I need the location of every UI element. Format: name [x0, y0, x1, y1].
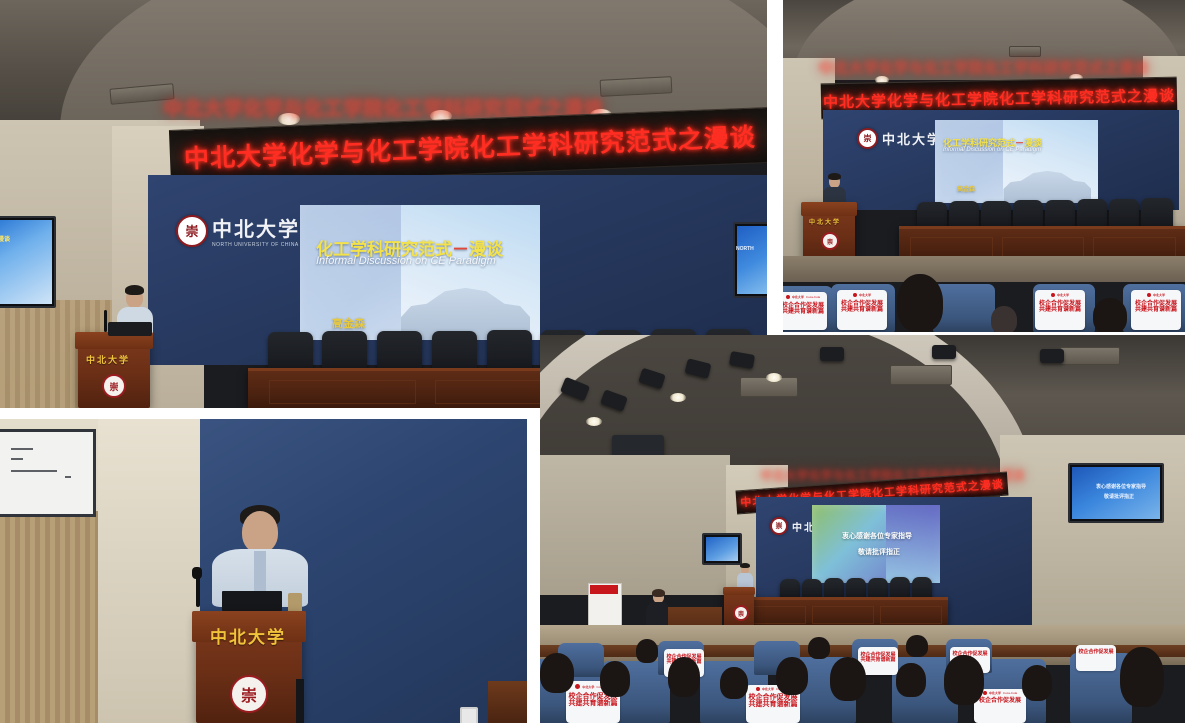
podium-seal-icon: 崇	[102, 374, 126, 398]
university-logo: 崇 中北大学 NORTH UNIVERSITY OF CHINA	[176, 213, 300, 248]
university-seal-icon: 崇	[176, 215, 208, 247]
side-monitor-left: 漫谈	[0, 216, 56, 308]
projector	[612, 435, 664, 457]
side-monitor-right: NORTH	[733, 222, 767, 298]
stage-light-icon	[820, 347, 844, 361]
seat-cover: 中北大学Coca-Cola 校企合作促发展 共建共育谱新篇	[783, 292, 827, 330]
audience-head	[668, 657, 700, 697]
university-seal-icon: 崇	[770, 517, 788, 535]
audience-head	[897, 274, 943, 332]
audience-head	[720, 667, 748, 699]
top-right-photo: 中北大学化学与化工学院化工学科研究范式之漫谈 中北大学化学与化工学院化工学科研究…	[783, 0, 1185, 332]
audience-head	[896, 663, 926, 697]
podium-label: 中北大学	[809, 217, 841, 226]
slide-thanks-line1: 衷心感谢各位专家指导	[842, 531, 912, 541]
seat-cover-line2: 共建共育谱新篇	[569, 700, 618, 707]
university-seal-icon: 崇	[857, 128, 878, 149]
audience-head	[808, 637, 830, 659]
projection-screen: 化工学科研究范式－漫谈 Informal Discussion on CE Pa…	[935, 120, 1098, 203]
laptop	[222, 591, 282, 611]
audience-head	[600, 661, 630, 697]
seat-cover-line2: 共建共育谱新篇	[783, 309, 824, 315]
podium: 崇	[724, 587, 754, 629]
side-monitor-line1: 衷心感谢各位专家指导	[1096, 483, 1146, 490]
audience-seats: 中北大学Coca-Cola 校企合作促发展 共建共育谱新篇 中北大学Coca-C…	[540, 635, 1185, 723]
bottom-right-photo: 中北大学化学与化工学院化工学科研究范式之漫谈 中北大学化学与化工学院化工学科研究…	[540, 335, 1185, 723]
podium: 中北大学 崇	[78, 332, 150, 408]
photo-collage: 中北大学化学与化工学院化工学科研究范式之漫谈 中北大学化学与化工学院化工学科研究…	[0, 0, 1185, 723]
seat-cover-line1: 校企合作促发展	[979, 698, 1021, 704]
slide-author: 高金森	[957, 184, 975, 193]
side-monitor-line2: 敬请批评指正	[1104, 493, 1134, 500]
projection-screen: 化工学科研究范式－漫谈 Informal Discussion on CE Pa…	[300, 205, 540, 340]
stage-table	[736, 597, 948, 628]
bottom-left-photo: 中北大学 崇	[0, 419, 527, 723]
projection-screen: 衷心感谢各位专家指导 敬请批评指正	[812, 505, 940, 583]
audience-head	[944, 655, 984, 705]
podium-label: 中北大学	[210, 623, 286, 648]
seat-cover: 中北大学 校企合作促发展 共建共育谱新篇	[1035, 290, 1085, 330]
ceiling-light-icon	[766, 373, 782, 382]
university-name-cn: 中北大学	[882, 129, 942, 148]
audience-seats: 中北大学Coca-Cola 校企合作促发展 共建共育谱新篇 中北大学 校企合作促…	[783, 272, 1185, 332]
audience-head	[991, 306, 1017, 332]
audience-head	[636, 639, 658, 663]
side-monitor-left	[702, 533, 742, 565]
ceiling-vent-icon	[1009, 46, 1041, 57]
audience-head	[830, 657, 866, 701]
podium: 中北大学 崇	[803, 202, 855, 264]
seat-cover-line2: 共建共育谱新篇	[749, 701, 798, 708]
seat-cover: 校企合作促发展	[1076, 645, 1116, 671]
slide-author: 高金森	[332, 315, 365, 331]
audience-head	[1022, 665, 1052, 701]
seat-cover-line1: 校企合作促发展	[1078, 650, 1113, 655]
ceiling-light-icon	[670, 393, 686, 402]
ceiling-vent-icon	[890, 365, 952, 385]
seat-cover-line2: 共建共育谱新篇	[860, 658, 895, 663]
audience-head	[776, 657, 808, 695]
ceiling-light-icon	[586, 417, 602, 426]
audience-head	[906, 635, 928, 657]
stage-light-icon	[932, 345, 956, 359]
university-name-cn: 中北大学	[212, 213, 300, 242]
ceiling-vent-icon	[1060, 347, 1120, 365]
side-monitor-right: 衷心感谢各位专家指导 敬请批评指正	[1068, 463, 1164, 523]
podium-seal-icon: 崇	[733, 605, 749, 621]
seat-cover-line2: 共建共育谱新篇	[1039, 307, 1081, 313]
audience-head	[1120, 647, 1164, 707]
university-name-en: NORTH UNIVERSITY OF CHINA	[212, 242, 300, 248]
slide-subtitle: Informal Discussion on CE Paradigm	[316, 255, 496, 267]
seat-cover-line2: 共建共育谱新篇	[1135, 307, 1177, 313]
podium-label: 中北大学	[86, 353, 130, 366]
podium-seal-icon: 崇	[230, 675, 268, 713]
seat-cover: 中北大学 校企合作促发展 共建共育谱新篇	[1131, 290, 1181, 330]
audience-head	[540, 653, 574, 693]
side-display	[0, 429, 96, 517]
microphone-icon	[192, 567, 202, 579]
led-banner-reflection-text: 中北大学化学与化工学院化工学科研究范式之漫谈	[819, 58, 1149, 78]
led-banner-text: 中北大学化学与化工学院化工学科研究范式之漫谈	[823, 84, 1175, 112]
podium-seal-icon: 崇	[821, 232, 839, 250]
slide-thanks-line2: 敬请批评指正	[858, 547, 900, 557]
university-logo: 崇 中北大学	[857, 128, 942, 149]
podium: 中北大学 崇	[196, 611, 302, 723]
microphone-icon	[104, 310, 107, 332]
slide-subtitle: Informal Discussion on CE Paradigm	[943, 147, 1041, 153]
led-banner-reflection: 中北大学化学与化工学院化工学科研究范式之漫谈	[783, 57, 1185, 79]
presenter	[212, 505, 308, 605]
led-banner-text: 中北大学化学与化工学院化工学科研究范式之漫谈	[183, 118, 756, 176]
audience-head	[1093, 298, 1127, 332]
seat-cover: 中北大学 校企合作促发展 共建共育谱新篇	[837, 290, 887, 330]
stage-light-icon	[1040, 349, 1064, 363]
seat-cover-line2: 共建共育谱新篇	[841, 307, 883, 313]
